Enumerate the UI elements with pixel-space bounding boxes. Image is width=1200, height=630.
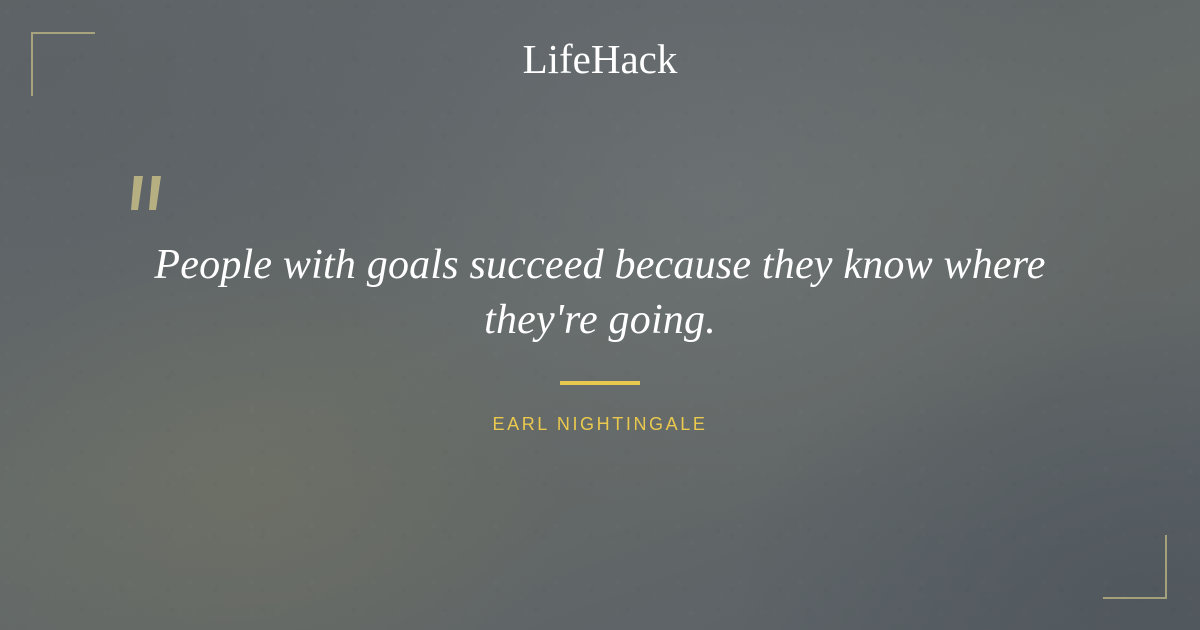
author-name: EARL NIGHTINGALE [0, 414, 1200, 435]
lifehack-logo: LifeHack [0, 38, 1200, 81]
quote-text: People with goals succeed because they k… [100, 238, 1100, 347]
quote-mark-icon [126, 172, 178, 220]
quote-block: People with goals succeed because they k… [100, 238, 1100, 347]
corner-bracket-bottom-right [1103, 535, 1167, 599]
author-divider [560, 381, 640, 385]
quote-card: LifeHack People with goals succeed becau… [0, 0, 1200, 630]
